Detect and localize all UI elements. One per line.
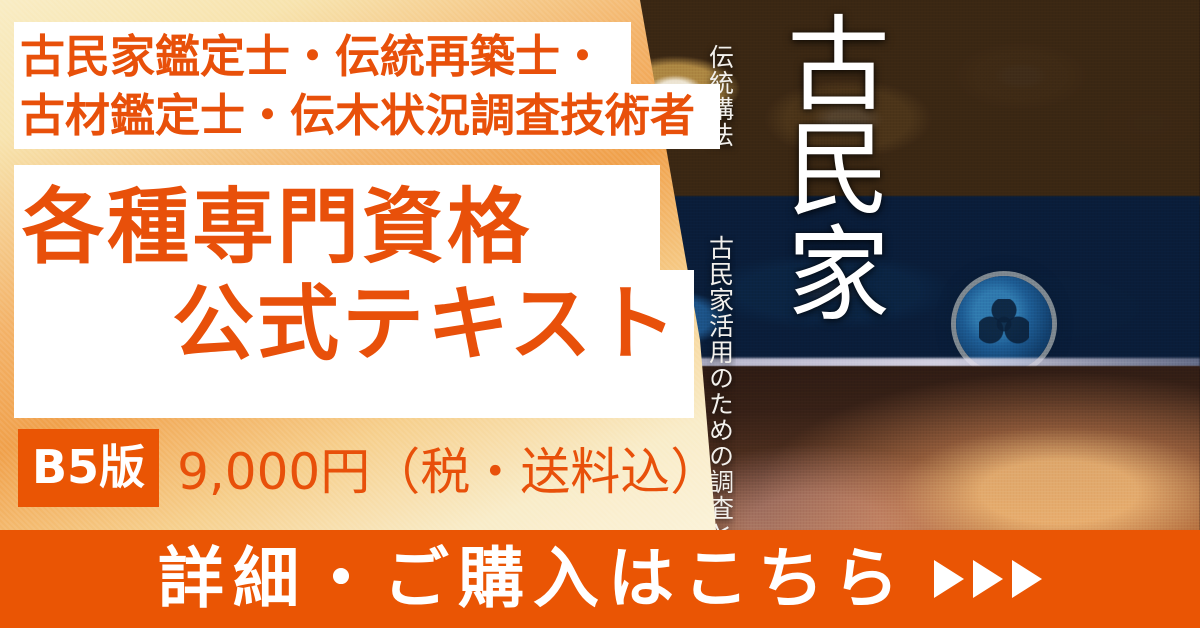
price-text: 9,000円（税・送料込） [177,432,720,504]
cta-arrows [934,560,1042,598]
play-arrow-icon [934,560,964,598]
main-title-line-2: 公式テキスト [22,277,702,374]
play-arrow-icon [973,560,1003,598]
book-title-vertical: 古民家 [782,10,894,325]
format-badge: B5版 [18,429,159,507]
headline-line-1: 古民家鑑定士・伝統再築士・ [20,27,720,86]
play-arrow-icon [1012,560,1042,598]
headline: 古民家鑑定士・伝統再築士・ 古材鑑定士・伝木状況調査技術者 [20,27,720,146]
promotional-banner: 伝統構法 古民家活用のための調査と再生の 古民家 古民家鑑定士・伝統再築士・ 古… [0,0,1200,628]
main-title-line-1: 各種専門資格 [22,180,702,277]
price-row: B5版 9,000円（税・送料込） [18,429,720,507]
headline-line-2: 古材鑑定士・伝木状況調査技術者 [20,86,720,145]
cta-label: 詳細・ご購入はこちら [158,546,908,612]
main-title: 各種専門資格 公式テキスト [22,180,702,374]
cta-bar[interactable]: 詳細・ご購入はこちら [0,530,1200,628]
